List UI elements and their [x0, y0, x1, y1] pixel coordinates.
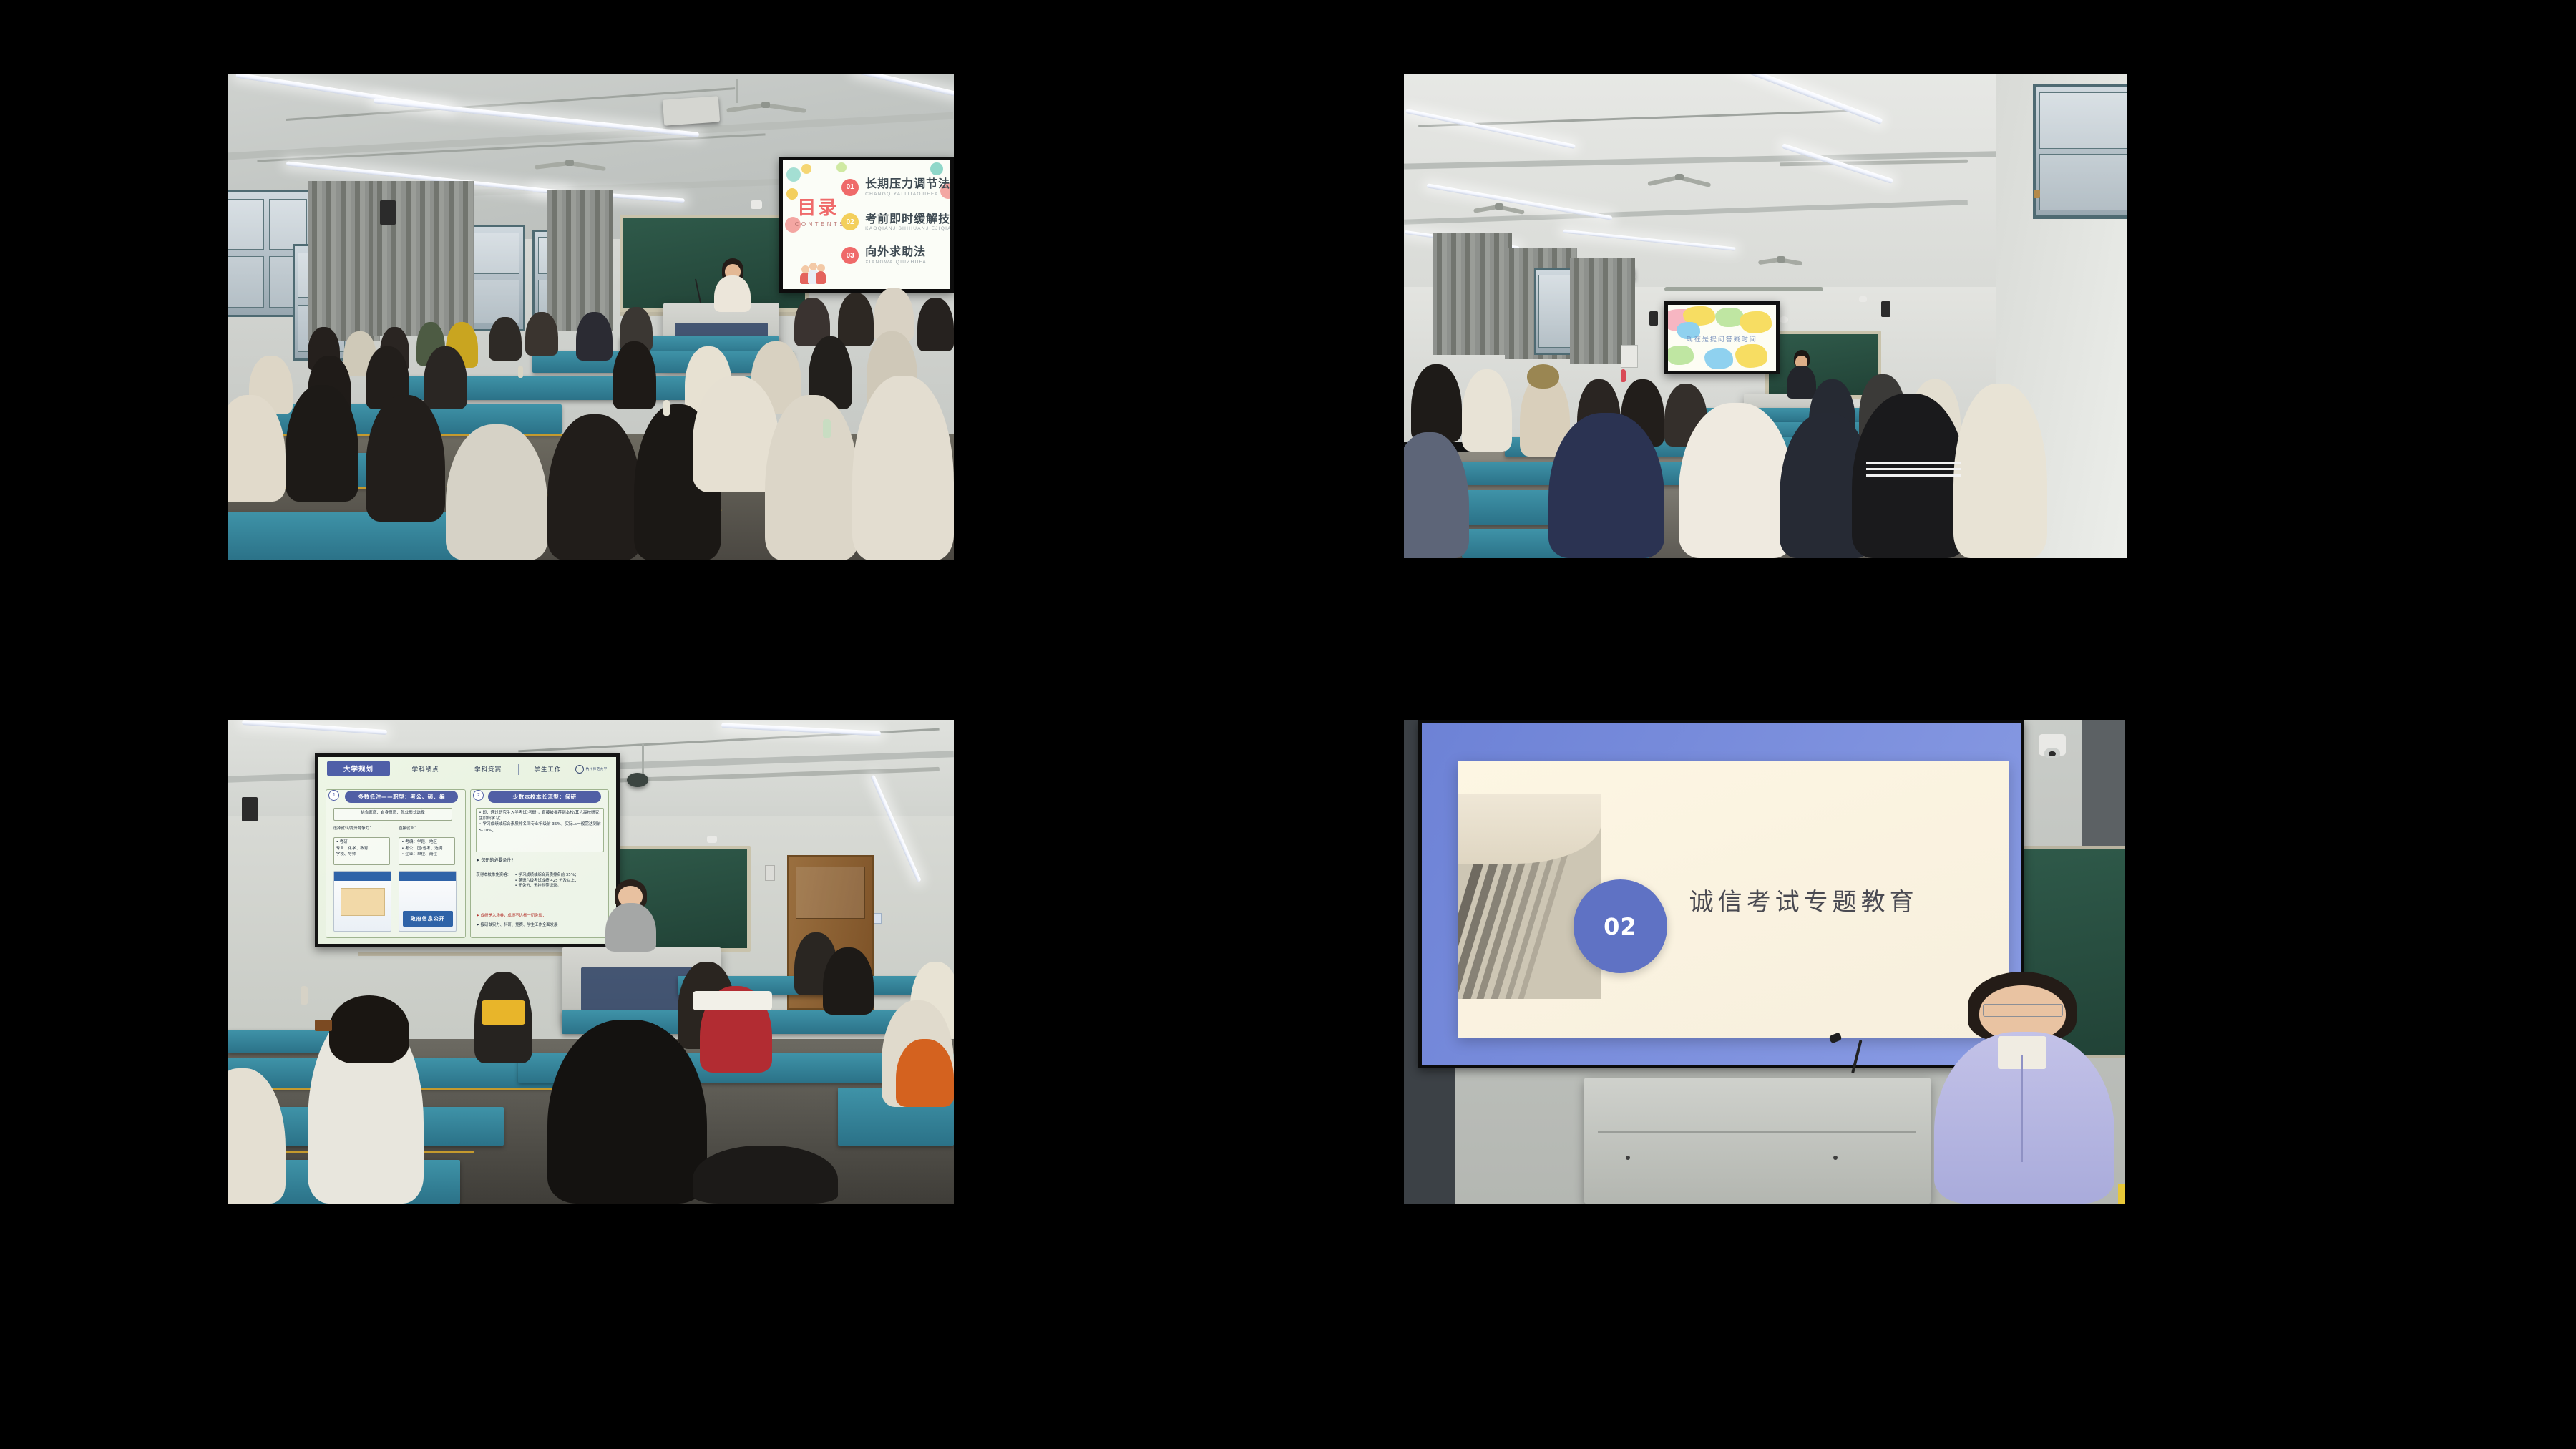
student: [852, 376, 954, 560]
student: [489, 317, 522, 361]
zipper: [2021, 1055, 2023, 1161]
student-hair: [329, 995, 409, 1063]
toc-label-cn: 向外求助法: [865, 246, 927, 258]
student: [424, 346, 467, 409]
left-box2: • 考编：学段、地区 • 考公：国/省考、选调 • 企业：单位、岗位: [399, 837, 455, 865]
photo-bottom-left: 大学规划 学科绩点 学科竞赛 学生工作 杭州师范大学 1: [228, 720, 954, 1204]
left-box1-line-2: 专业：化学、教育: [336, 846, 387, 852]
section-number: 02: [1574, 879, 1667, 973]
right-req-1: • 学习成绩或综合素质排名前 35%；: [515, 873, 605, 879]
student: [547, 414, 642, 560]
security-camera: [2039, 734, 2066, 756]
slide-title: 现在是提问答疑时间: [1668, 334, 1777, 343]
hoodie-accent: [482, 1000, 525, 1025]
right-question: ➤ 保研的必要条件?: [476, 858, 601, 864]
right-req-3: • 无免分、无挂科等记录。: [515, 884, 605, 889]
school-logo-text: 杭州师范大学: [586, 767, 608, 771]
student: [896, 1039, 954, 1107]
slide-qna: 现在是提问答疑时间: [1668, 305, 1777, 371]
right-req-label: 获得本校推免资格：: [476, 873, 512, 879]
illustration-kids: [800, 263, 824, 284]
slide-tabbar: 大学规划 学科绩点 学科竞赛 学生工作 杭州师范大学: [318, 757, 616, 785]
slide-contents: 目录 CONTENTS 01 长期压力调节法 CHANGQIYALITIAOJI…: [783, 160, 950, 289]
left-box1-line-3: 学校、导师: [336, 852, 387, 857]
right-note-1: ➤ 成绩是入场券，成绩不达标一切免谈；: [476, 914, 604, 919]
presenter: [1931, 972, 2118, 1204]
gov-info-button: 政府信息公开: [403, 911, 453, 927]
slide-card: 02 诚信考试专题教育: [1458, 761, 2009, 1037]
photo-bottom-right: 02 诚信考试专题教育: [1404, 720, 2125, 1204]
toc-item-3: 03 向外求助法 XIANGWAIQIUZHUFA: [841, 246, 927, 265]
wall-fitting: [2034, 190, 2040, 198]
water-bottle: [1621, 369, 1626, 382]
light-switch: [765, 865, 775, 881]
water-bottle: [301, 986, 308, 1005]
slide-tab-active: 大学规划: [327, 761, 389, 776]
toc-label-en: KAOQIANJISHIHUANJIEJIQIAO: [865, 226, 950, 231]
left-box2-line-3: • 企业：单位、岗位: [401, 852, 452, 857]
jacket-stripes: [1866, 462, 1960, 481]
student-cap: [1527, 364, 1559, 389]
wall-speaker: [380, 200, 396, 225]
photo-top-left: 目录 CONTENTS 01 长期压力调节法 CHANGQIYALITIAOJI…: [228, 74, 954, 560]
slide-tab-2: 学科竞赛: [462, 763, 515, 776]
left-subhead: 结合家庭、自身意愿、就业形式选择: [333, 808, 453, 821]
projection-screen: 大学规划 学科绩点 学科竞赛 学生工作 杭州师范大学 1: [315, 753, 620, 947]
student: [1679, 403, 1795, 558]
toc-item-2: 02 考前即时缓解技巧 KAOQIANJISHIHUANJIEJIQIAO: [841, 213, 950, 232]
wall-speaker: [1649, 311, 1658, 326]
eyeglasses: [1983, 1004, 2063, 1017]
curtain: [1433, 233, 1512, 354]
left-header: 多数低注——职型：考公、硕、编: [345, 791, 458, 803]
wall-speaker: [1881, 301, 1890, 317]
decorative-ribbed-graphic: [1458, 794, 1601, 999]
security-camera: [1859, 296, 1867, 302]
toc-label-cn: 考前即时缓解技巧: [865, 213, 950, 225]
right-note-2: ➤ 报研做实力、科研、竞赛、学生工作全面发展: [476, 923, 604, 929]
security-camera: [707, 836, 717, 843]
toc-label-cn: 长期压力调节法: [865, 178, 950, 190]
chair-back: [315, 1020, 332, 1031]
water-bottle: [823, 419, 831, 438]
left-box2-line-2: • 考公：国/省考、选调: [401, 846, 452, 852]
student: [613, 341, 656, 409]
screenshot-right: 政府信息公开: [399, 871, 457, 932]
door-sign: [874, 913, 882, 924]
student: [286, 385, 358, 502]
curtain: [308, 181, 381, 341]
wall-notice: [1621, 345, 1638, 368]
collage-canvas: 目录 CONTENTS 01 长期压力调节法 CHANGQIYALITIAOJI…: [0, 0, 2576, 1449]
school-logo: 杭州师范大学: [575, 764, 608, 775]
photo-top-right: 现在是提问答疑时间: [1404, 74, 2127, 558]
water-bottle: [663, 400, 670, 416]
right-line-1: • 即：通过研究生入学考试(考研)，直接被推荐到本校/其它高校研究生阶段学习；: [479, 810, 601, 822]
curtain: [547, 190, 613, 331]
section-heading: 诚信考试专题教育: [1689, 882, 1918, 917]
floor-marker: [2118, 1184, 2125, 1204]
projection-screen: 目录 CONTENTS 01 长期压力调节法 CHANGQIYALITIAOJI…: [779, 157, 954, 293]
projection-screen: 现在是提问答疑时间: [1664, 301, 1780, 374]
slide-planning: 大学规划 学科绩点 学科竞赛 学生工作 杭州师范大学 1: [318, 757, 616, 943]
presenter: [714, 258, 751, 312]
student: [525, 312, 558, 356]
projector: [663, 96, 720, 125]
screenshot-left: [333, 871, 391, 932]
student: [823, 947, 874, 1015]
wall-speaker: [242, 797, 258, 821]
toc-label-en: XIANGWAIQIUZHUFA: [865, 260, 927, 265]
light-fixture-off: [1664, 287, 1823, 291]
left-box1: • 考研 专业：化学、教育 学校、导师: [333, 837, 390, 865]
toc-label-en: CHANGQIYALITIAOJIEFA: [865, 192, 950, 197]
student: [1411, 364, 1462, 441]
security-camera: [1780, 316, 1788, 323]
student: [446, 424, 547, 560]
fur-collar: [693, 991, 773, 1010]
right-line-2: • 学习成绩或综合素质排名同专业年级前 35%，实际上一般需达到前 5-10%；: [479, 821, 601, 834]
toc-badge: 03: [841, 247, 859, 264]
presenter: [605, 879, 656, 952]
student: [1548, 413, 1664, 558]
right-req-list: • 学习成绩或综合素质排名前 35%； • 英语六级考试成绩 425 分及以上；…: [515, 873, 605, 889]
slide-tab-1: 学科绩点: [399, 763, 452, 776]
student: [693, 1146, 838, 1204]
student: [917, 298, 954, 351]
left-box1-line-1: • 考研: [336, 839, 387, 845]
student: [547, 1020, 707, 1204]
slide-title-block: 目录 CONTENTS: [795, 199, 841, 228]
fan-rod: [736, 79, 738, 103]
left-box1-title: 选择就业/提升竞争力：: [333, 826, 393, 832]
slide-tab-3: 学生工作: [521, 763, 575, 776]
slide-title-cn: 目录: [795, 199, 841, 218]
student: [838, 293, 874, 346]
slide-title-en: CONTENTS: [795, 221, 841, 228]
window: [2033, 84, 2127, 220]
left-box2-line-1: • 考编：学段、地区: [401, 839, 452, 845]
right-header: 少数本校本长流型：保研: [488, 791, 601, 803]
water-bottle: [518, 366, 523, 378]
student: [576, 312, 613, 361]
student: [765, 395, 859, 560]
security-camera: [751, 200, 762, 209]
toc-badge: 02: [841, 213, 859, 230]
left-box2-title: 直接就业：: [399, 826, 452, 832]
presenter: [1787, 350, 1815, 399]
toc-item-1: 01 长期压力调节法 CHANGQIYALITIAOJIEFA: [841, 178, 950, 197]
toc-badge: 01: [841, 179, 859, 196]
student: [1953, 384, 2047, 558]
right-detail-box: • 即：通过研究生入学考试(考研)，直接被推荐到本校/其它高校研究生阶段学习； …: [476, 808, 604, 852]
podium: [1584, 1078, 1931, 1204]
